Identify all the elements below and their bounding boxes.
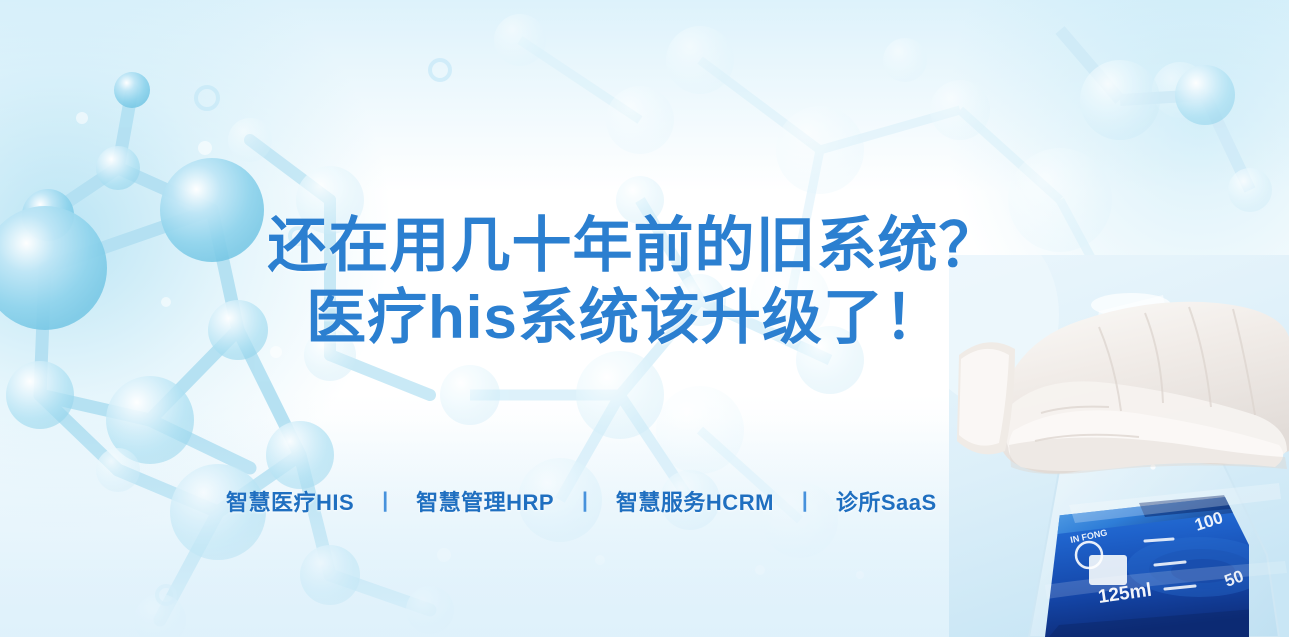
nav-separator-3: | <box>802 489 808 513</box>
nav-item-hcrm[interactable]: 智慧服务HCRM <box>616 485 774 517</box>
nav-item-his[interactable]: 智慧医疗HIS <box>226 485 354 517</box>
nav-separator-1: | <box>382 489 388 513</box>
feature-nav: 智慧医疗HIS | 智慧管理HRP | 智慧服务HCRM | 诊所SaaS <box>0 485 1289 517</box>
nav-item-hrp[interactable]: 智慧管理HRP <box>416 485 554 517</box>
promo-banner: 100 50 125ml IN FONG <box>0 0 1289 637</box>
gloved-hand-holding-flask-image: 100 50 125ml IN FONG <box>949 255 1289 637</box>
nav-separator-2: | <box>582 489 588 513</box>
nav-item-saas[interactable]: 诊所SaaS <box>836 485 937 517</box>
